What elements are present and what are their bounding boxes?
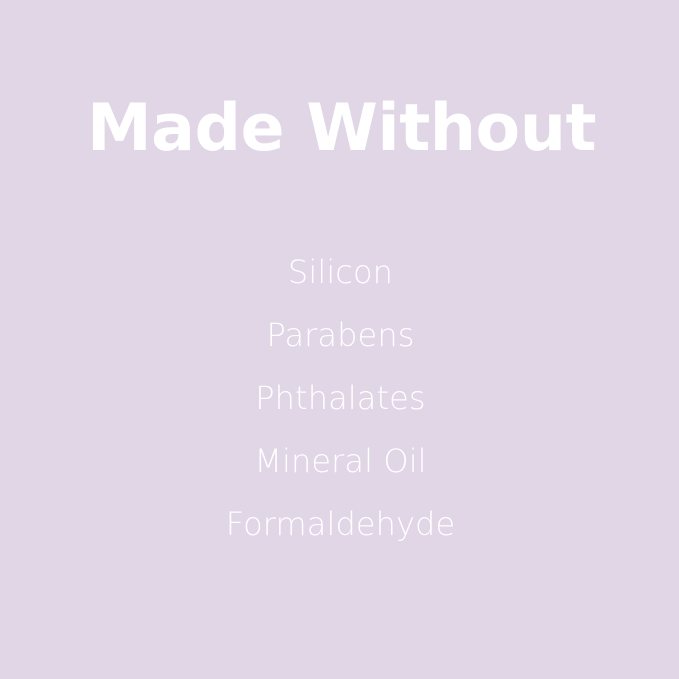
list-item: Parabens [267, 304, 415, 367]
excluded-ingredients-list: Silicon Parabens Phthalates Mineral Oil … [0, 241, 679, 556]
page-title: Made Without [87, 96, 596, 200]
heading-block: Made Without [0, 0, 679, 200]
list-item: Phthalates [255, 367, 425, 430]
list-item: Formaldehyde [226, 493, 456, 556]
list-item: Silicon [288, 241, 393, 304]
made-without-card: Made Without Silicon Parabens Phthalates… [0, 0, 679, 679]
list-item: Mineral Oil [254, 430, 426, 493]
